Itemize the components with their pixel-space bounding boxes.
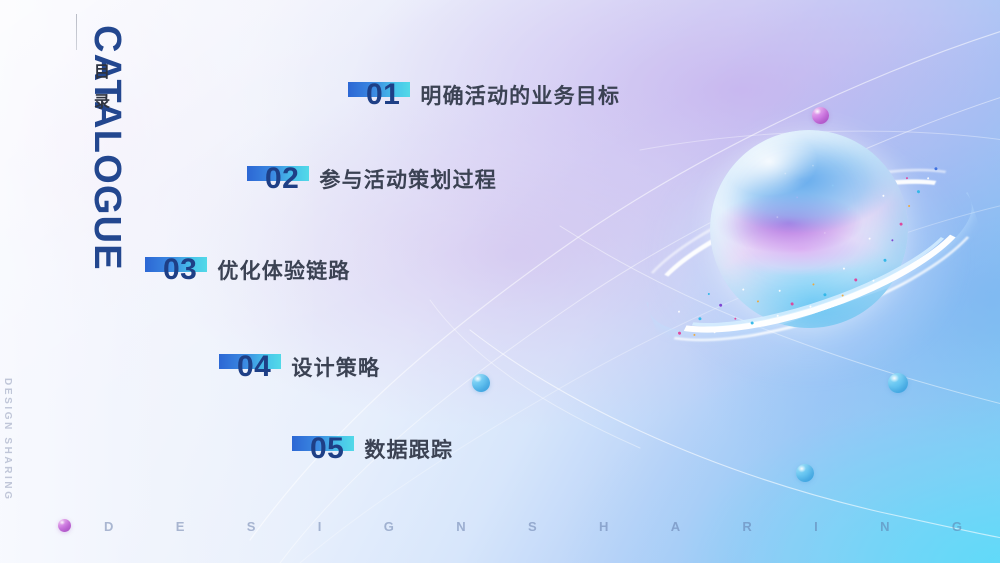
footer-letter: G [384, 519, 394, 534]
footer-letters: DESIGNSHARING [104, 515, 962, 537]
menu-item-01[interactable]: 01 明确活动的业务目标 [348, 73, 620, 117]
menu-label-03: 优化体验链路 [217, 255, 350, 285]
menu-number-wrap-03: 03 [145, 255, 197, 285]
menu-label-04: 设计策略 [291, 352, 380, 382]
menu-number-03: 03 [145, 255, 197, 285]
menu-number-wrap-02: 02 [247, 164, 299, 194]
footer-letter: D [104, 519, 113, 534]
menu-number-wrap-04: 04 [219, 352, 271, 382]
footer-letter: A [671, 519, 680, 534]
footer-strip: DESIGNSHARING [0, 515, 1000, 537]
menu-number-wrap-01: 01 [348, 80, 400, 110]
menu-item-04[interactable]: 04 设计策略 [219, 345, 380, 389]
footer-letter: G [952, 519, 962, 534]
menu-number-05: 05 [292, 434, 344, 464]
menu-label-02: 参与活动策划过程 [319, 164, 497, 194]
gradient-sphere-icon [58, 519, 71, 532]
footer-letter: N [880, 519, 889, 534]
footer-letter: R [742, 519, 751, 534]
menu-item-05[interactable]: 05 数据跟踪 [292, 427, 453, 471]
footer-letter: I [318, 519, 322, 534]
footer-letter: S [528, 519, 537, 534]
menu-label-05: 数据跟踪 [364, 434, 453, 464]
menu-item-03[interactable]: 03 优化体验链路 [145, 248, 351, 292]
footer-letter: S [247, 519, 256, 534]
footer-letter: I [814, 519, 818, 534]
menu-label-01: 明确活动的业务目标 [420, 80, 620, 110]
catalogue-menu-list: 01 明确活动的业务目标 02 参与活动策划过程 03 优化体验链路 04 设计… [0, 0, 1000, 563]
footer-letter: H [599, 519, 608, 534]
menu-number-02: 02 [247, 164, 299, 194]
slide-canvas: CATALOGUE 目录 DESIGN SHARING 01 明确活动的业务目标… [0, 0, 1000, 563]
menu-item-02[interactable]: 02 参与活动策划过程 [247, 157, 497, 201]
footer-letter: E [176, 519, 185, 534]
menu-number-wrap-05: 05 [292, 434, 344, 464]
menu-number-04: 04 [219, 352, 271, 382]
menu-number-01: 01 [348, 80, 400, 110]
footer-letter: N [456, 519, 465, 534]
